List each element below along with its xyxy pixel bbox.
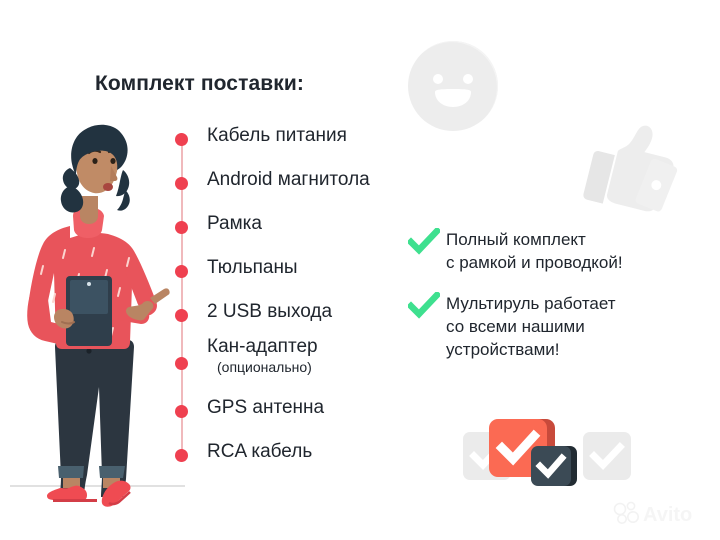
- benefit-line: с рамкой и проводкой!: [446, 251, 698, 274]
- checkbox-card-gray-right: [583, 432, 631, 480]
- checkbox-card-dark: [531, 446, 571, 486]
- woman-pointing-illustration: [10, 108, 185, 508]
- list-item-label: Кабель питания: [207, 125, 347, 147]
- green-check-icon: [408, 228, 440, 258]
- smiley-face-icon: [405, 38, 501, 134]
- list-item: GPS антенна: [172, 402, 432, 446]
- benefit-line: Полный комплект: [446, 228, 698, 251]
- benefit-text: Мультируль работает со всеми нашими устр…: [446, 292, 698, 361]
- avito-watermark: Avito: [612, 500, 708, 526]
- list-item-label: RCA кабель: [207, 441, 312, 463]
- list-item: Кан-адаптер (опционально): [172, 354, 432, 398]
- bullet-dot-icon: [175, 221, 188, 234]
- bullet-dot-icon: [175, 309, 188, 322]
- bullet-dot-icon: [175, 357, 188, 370]
- benefit-line: со всеми нашими: [446, 315, 698, 338]
- check-mark-icon: [531, 446, 571, 486]
- list-item-label: Android магнитола: [207, 169, 370, 191]
- list-item-label: Тюльпаны: [207, 257, 298, 279]
- bullet-dot-icon: [175, 265, 188, 278]
- list-item-label: Кан-адаптер: [207, 336, 318, 358]
- check-mark-icon: [583, 432, 631, 480]
- list-item-label: 2 USB выхода: [207, 301, 332, 323]
- bullet-dot-icon: [175, 405, 188, 418]
- benefit-text: Полный комплект с рамкой и проводкой!: [446, 228, 698, 274]
- list-item-label: GPS антенна: [207, 397, 324, 419]
- benefit-line: устройствами!: [446, 338, 698, 361]
- slide-canvas: Кабель питания Android магнитола Рамка Т…: [0, 0, 720, 540]
- list-item: Android магнитола: [172, 174, 432, 218]
- list-item: Кабель питания: [172, 130, 432, 174]
- list-item: Рамка: [172, 218, 432, 262]
- kit-contents-list: Кабель питания Android магнитола Рамка Т…: [172, 130, 432, 460]
- benefits-list: Полный комплект с рамкой и проводкой! Му…: [408, 228, 698, 372]
- benefit-item: Полный комплект с рамкой и проводкой!: [408, 228, 698, 286]
- checkbox-cards-icon: [455, 408, 640, 493]
- benefit-line: Мультируль работает: [446, 292, 698, 315]
- watermark-text: Avito: [643, 504, 692, 526]
- list-item-label: Рамка: [207, 213, 262, 235]
- list-item: Тюльпаны: [172, 262, 432, 306]
- list-item-sublabel: (опционально): [217, 359, 312, 375]
- bullet-dot-icon: [175, 177, 188, 190]
- green-check-icon: [408, 292, 440, 322]
- bullet-dot-icon: [175, 449, 188, 462]
- bullet-dot-icon: [175, 133, 188, 146]
- list-item: RCA кабель: [172, 446, 432, 490]
- benefit-item: Мультируль работает со всеми нашими устр…: [408, 292, 698, 372]
- thumbs-up-icon: [575, 112, 693, 218]
- page-title: Комплект поставки:: [95, 72, 304, 96]
